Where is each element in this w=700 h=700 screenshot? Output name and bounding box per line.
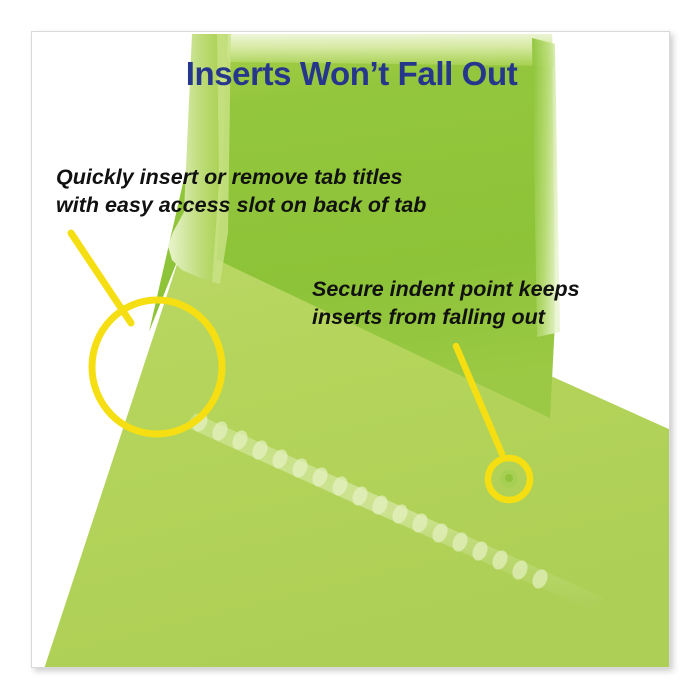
page-title: Inserts Won’t Fall Out: [32, 55, 670, 93]
product-image-card: Inserts Won’t Fall Out Quickly insert or…: [31, 31, 670, 668]
callout-text-indent-point: Secure indent point keeps inserts from f…: [312, 275, 642, 331]
callout-text-access-slot: Quickly insert or remove tab titles with…: [56, 163, 426, 219]
secure-indent-point: [500, 470, 518, 488]
screenshot-stage: Inserts Won’t Fall Out Quickly insert or…: [0, 0, 700, 700]
product-photograph: [32, 32, 670, 668]
